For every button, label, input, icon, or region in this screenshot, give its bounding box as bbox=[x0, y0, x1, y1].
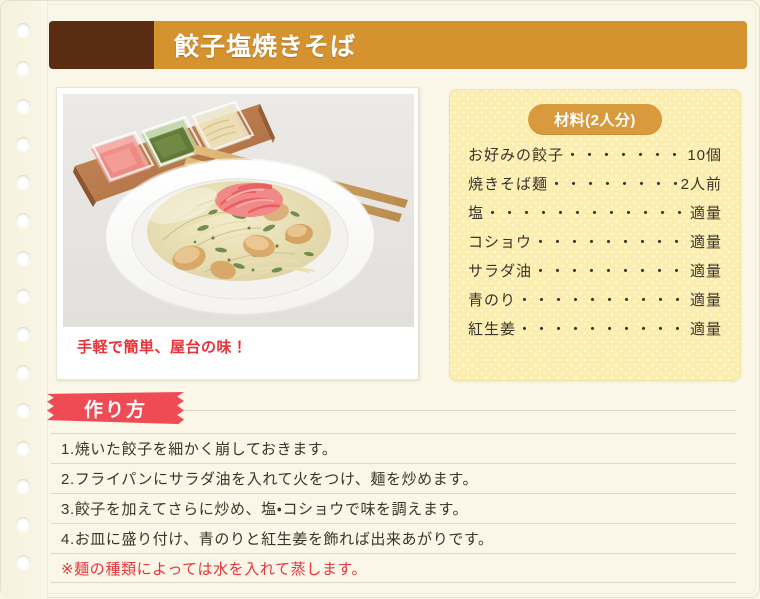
ingredient-name: 紅生姜 bbox=[468, 318, 516, 339]
recipe-title-bar: 餃子塩焼きそば bbox=[49, 21, 747, 69]
ingredient-leader-dots: ・・・・・・・・・・・・ bbox=[565, 144, 686, 165]
page-title: 餃子塩焼きそば bbox=[154, 27, 356, 63]
ingredient-name: 焼きそば麺 bbox=[468, 173, 548, 194]
binder-hole bbox=[16, 175, 30, 189]
ingredient-name: 塩 bbox=[468, 202, 484, 223]
ingredient-row: 紅生姜・・・・・・・・・・・・・・・・適量 bbox=[468, 318, 722, 347]
ingredients-badge: 材料(2人分) bbox=[528, 104, 662, 135]
ingredient-row: 青のり・・・・・・・・・・・・・・・・適量 bbox=[468, 289, 722, 318]
method-step: 4.お皿に盛り付け、青のりと紅生姜を飾れば出来あがりです。 bbox=[51, 523, 736, 553]
ingredient-row: コショウ・・・・・・・・・・・・・・適量 bbox=[468, 231, 722, 260]
binder-hole bbox=[16, 23, 30, 37]
binder-hole bbox=[16, 555, 30, 569]
ingredient-amount: 適量 bbox=[690, 260, 722, 281]
photo-caption: 手軽で簡単、屋台の味！ bbox=[77, 336, 248, 357]
binder-hole bbox=[16, 137, 30, 151]
ingredient-leader-dots: ・・・・・・・・・・・・・・・・ bbox=[517, 318, 689, 339]
binder-hole bbox=[16, 61, 30, 75]
binder-hole bbox=[16, 251, 30, 265]
ingredient-leader-dots: ・・・・・・・・・・・・・・・・ bbox=[517, 289, 689, 310]
recipe-page: 餃子塩焼きそば bbox=[0, 0, 760, 598]
ingredient-leader-dots: ・・・・・・・・・・・・・・ bbox=[533, 231, 689, 252]
ingredient-amount: 10個 bbox=[687, 144, 722, 165]
ingredient-name: 青のり bbox=[468, 289, 516, 310]
ingredient-name: コショウ bbox=[468, 231, 532, 252]
ingredient-amount: 適量 bbox=[690, 289, 722, 310]
method-step: 2.フライパンにサラダ油を入れて火をつけ、麺を炒めます。 bbox=[51, 463, 736, 493]
ingredient-amount: 適量 bbox=[690, 231, 722, 252]
title-color-swatch bbox=[49, 21, 154, 69]
ingredient-amount: 適量 bbox=[690, 318, 722, 339]
ingredients-panel: 材料(2人分) お好みの餃子・・・・・・・・・・・・10個焼きそば麺・・・・・・… bbox=[449, 89, 741, 381]
ingredient-row: サラダ油・・・・・・・・・・・・・・・適量 bbox=[468, 260, 722, 289]
binder-hole bbox=[16, 441, 30, 455]
ingredient-amount: 2人前 bbox=[681, 173, 722, 194]
method-steps: 1.焼いた餃子を細かく崩しておきます。2.フライパンにサラダ油を入れて火をつけ、… bbox=[51, 433, 736, 583]
ingredient-leader-dots: ・・・・・・・・・・・・・・・・・・・ bbox=[485, 202, 689, 223]
recipe-photo-card: 手軽で簡単、屋台の味！ bbox=[56, 87, 419, 380]
binder-hole bbox=[16, 99, 30, 113]
binder-hole bbox=[16, 289, 30, 303]
ingredients-list: お好みの餃子・・・・・・・・・・・・10個焼きそば麺・・・・・・・・・・・・・2… bbox=[468, 144, 722, 347]
binder-hole bbox=[16, 517, 30, 531]
ingredient-name: サラダ油 bbox=[468, 260, 532, 281]
ingredient-row: 塩・・・・・・・・・・・・・・・・・・・適量 bbox=[468, 202, 722, 231]
recipe-photo bbox=[63, 94, 414, 327]
ingredient-leader-dots: ・・・・・・・・・・・・・・・ bbox=[533, 260, 689, 281]
ingredient-leader-dots: ・・・・・・・・・・・・・ bbox=[549, 173, 680, 194]
method-heading-ribbon: 作り方 bbox=[47, 392, 184, 424]
binder-hole bbox=[16, 213, 30, 227]
method-note: ※麺の種類によっては水を入れて蒸します。 bbox=[51, 553, 736, 583]
ingredient-row: お好みの餃子・・・・・・・・・・・・10個 bbox=[468, 144, 722, 173]
ingredient-amount: 適量 bbox=[690, 202, 722, 223]
binder-hole bbox=[16, 403, 30, 417]
ingredient-name: お好みの餃子 bbox=[468, 144, 564, 165]
binder-hole bbox=[16, 479, 30, 493]
ingredient-row: 焼きそば麺・・・・・・・・・・・・・2人前 bbox=[468, 173, 722, 202]
method-step: 3.餃子を加えてさらに炒め、塩・コショウで味を調えます。 bbox=[51, 493, 736, 523]
binder-hole bbox=[16, 327, 30, 341]
method-heading-rule bbox=[184, 410, 736, 411]
method-step: 1.焼いた餃子を細かく崩しておきます。 bbox=[51, 433, 736, 463]
binder-hole bbox=[16, 365, 30, 379]
binder-strip bbox=[1, 1, 48, 599]
